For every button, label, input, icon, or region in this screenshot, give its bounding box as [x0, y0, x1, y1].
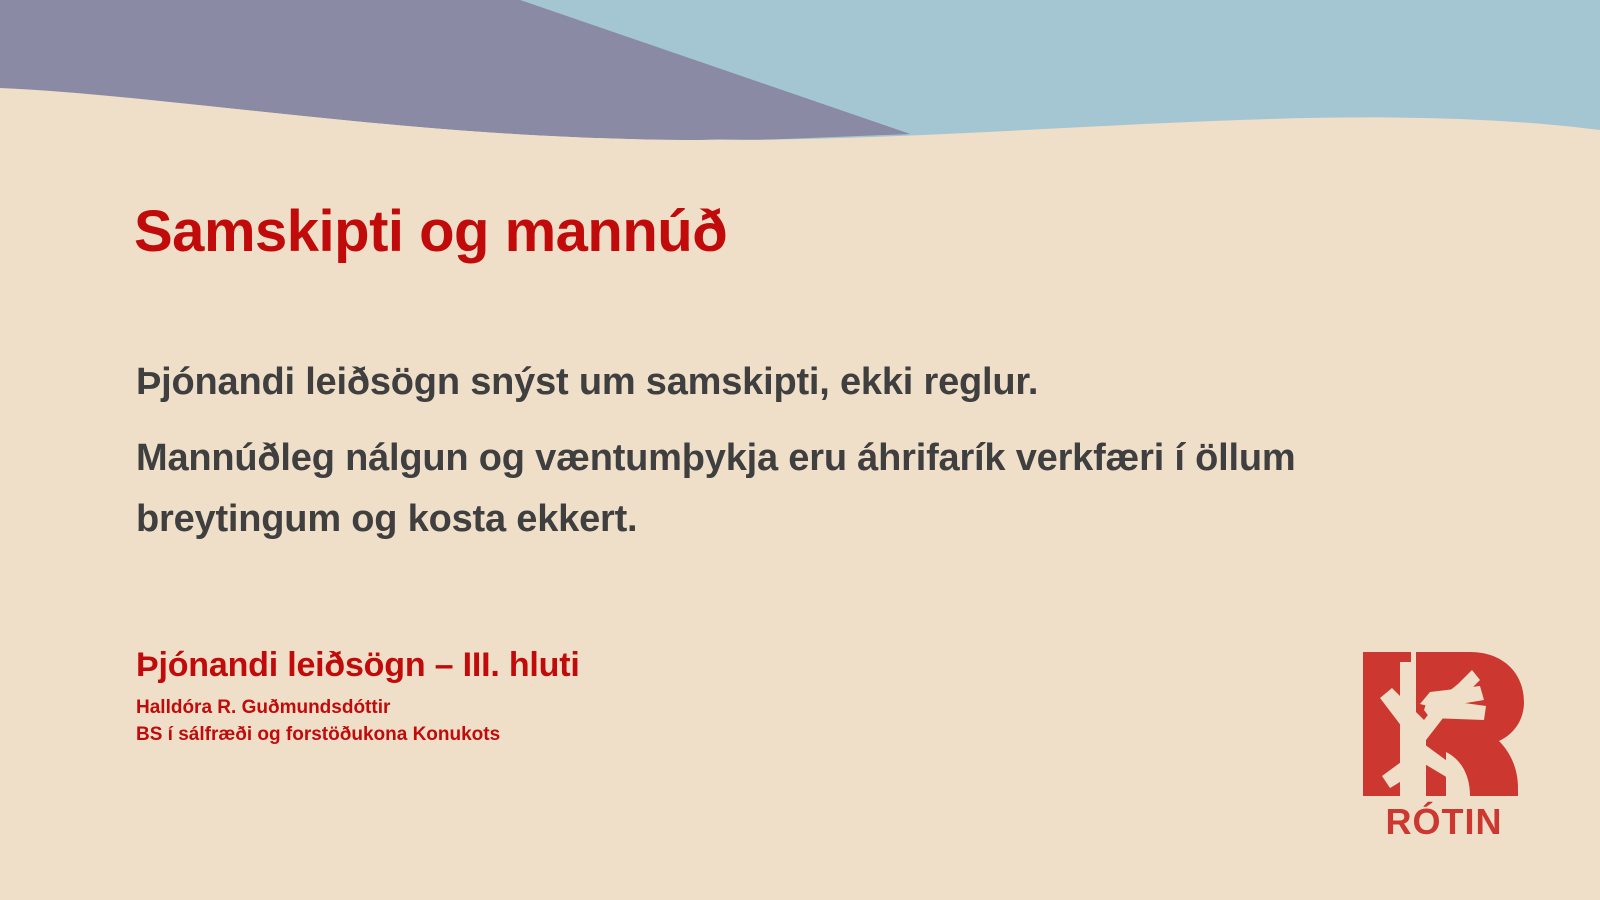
slide-body: Þjónandi leiðsögn snýst um samskipti, ek… [136, 352, 1476, 551]
rotin-root-r-logo [1363, 652, 1524, 798]
footer-series-title: Þjónandi leiðsögn – III. hluti [136, 645, 580, 686]
body-paragraph-2: Mannúðleg nálgun og væntumþykja eru áhri… [136, 428, 1476, 551]
slide-title: Samskipti og mannúð [134, 202, 727, 263]
body-paragraph-1: Þjónandi leiðsögn snýst um samskipti, ek… [136, 352, 1476, 414]
footer-author-name: Halldóra R. Guðmundsdóttir [136, 695, 580, 721]
presentation-slide: Samskipti og mannúð Þjónandi leiðsögn sn… [0, 0, 1600, 900]
footer-author-role: BS í sálfræði og forstöðukona Konukots [136, 722, 580, 748]
slide-content: Samskipti og mannúð Þjónandi leiðsögn sn… [0, 0, 1600, 900]
logo-wordmark: RÓTIN [1386, 800, 1503, 838]
rotin-logo: RÓTIN [1358, 648, 1530, 838]
slide-footer: Þjónandi leiðsögn – III. hluti Halldóra … [136, 645, 580, 748]
